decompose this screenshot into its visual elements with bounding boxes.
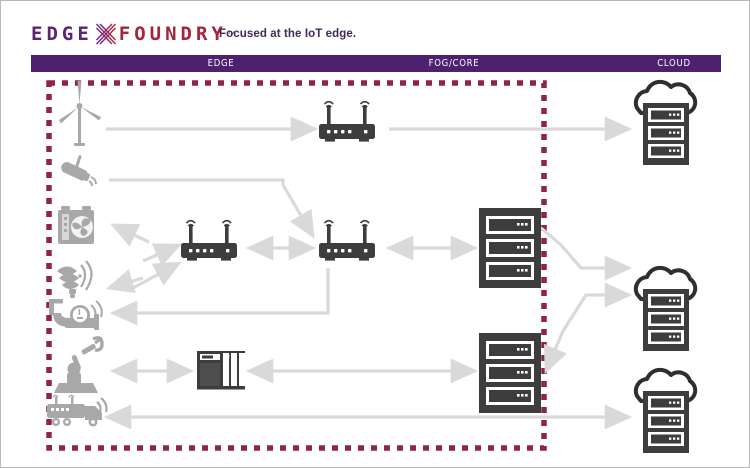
cloud-server-icon-top <box>636 82 695 165</box>
wifi-router-icon-edge-gateway <box>181 221 237 261</box>
architecture-diagram-canvas <box>1 73 750 461</box>
connected-truck-icon <box>47 396 106 427</box>
zone-label-cloud: CLOUD <box>631 55 717 72</box>
robot-arm-icon <box>54 338 102 393</box>
wifi-router-icon-fog-top <box>319 102 375 142</box>
flow-hvac-edge-router-in <box>143 245 179 261</box>
edgex-foundry-logo: EDGE <box>31 21 235 47</box>
pipe-gauge-icon <box>49 299 102 330</box>
brand-tagline: Focused at the IoT edge. <box>219 28 356 40</box>
x-crosshatch-icon <box>94 22 118 46</box>
logo-word-edge: EDGE <box>31 25 93 44</box>
cloud-server-icon-mid <box>636 268 695 351</box>
flow-meter-edge-router-in <box>133 263 179 288</box>
zone-label-edge: EDGE <box>171 55 271 72</box>
server-rack-icon-core-upper <box>479 208 541 288</box>
flow-core-lower-to-cloud-mid <box>546 295 629 371</box>
plc-controller-icon <box>197 351 245 390</box>
diagram-frame: EDGE <box>0 0 750 468</box>
flow-hvac-edge-router-out <box>113 225 149 242</box>
server-rack-icon-core-lower <box>479 333 541 413</box>
zone-header-band: EDGE FOG/CORE CLOUD <box>31 55 721 72</box>
cctv-camera-icon <box>59 155 96 186</box>
edge-foundry-scope-boundary <box>49 83 544 448</box>
logo-word-foundry: FOUNDRY <box>119 25 227 44</box>
smart-meter-icon <box>57 261 92 298</box>
flow-core-server-to-cloud-top-branch <box>541 228 629 268</box>
zone-label-fog-core: FOG/CORE <box>404 55 504 72</box>
wifi-router-icon-fog-mid <box>319 221 375 261</box>
flow-pipe-valve-from-fog <box>113 268 328 313</box>
wind-turbine-icon <box>59 81 101 146</box>
cloud-server-icon-bottom <box>636 370 695 453</box>
flow-camera-to-fog-router <box>109 180 313 236</box>
diagram-svg <box>1 73 750 461</box>
hvac-fan-icon <box>58 206 94 244</box>
header-logo-row: EDGE <box>1 1 750 53</box>
